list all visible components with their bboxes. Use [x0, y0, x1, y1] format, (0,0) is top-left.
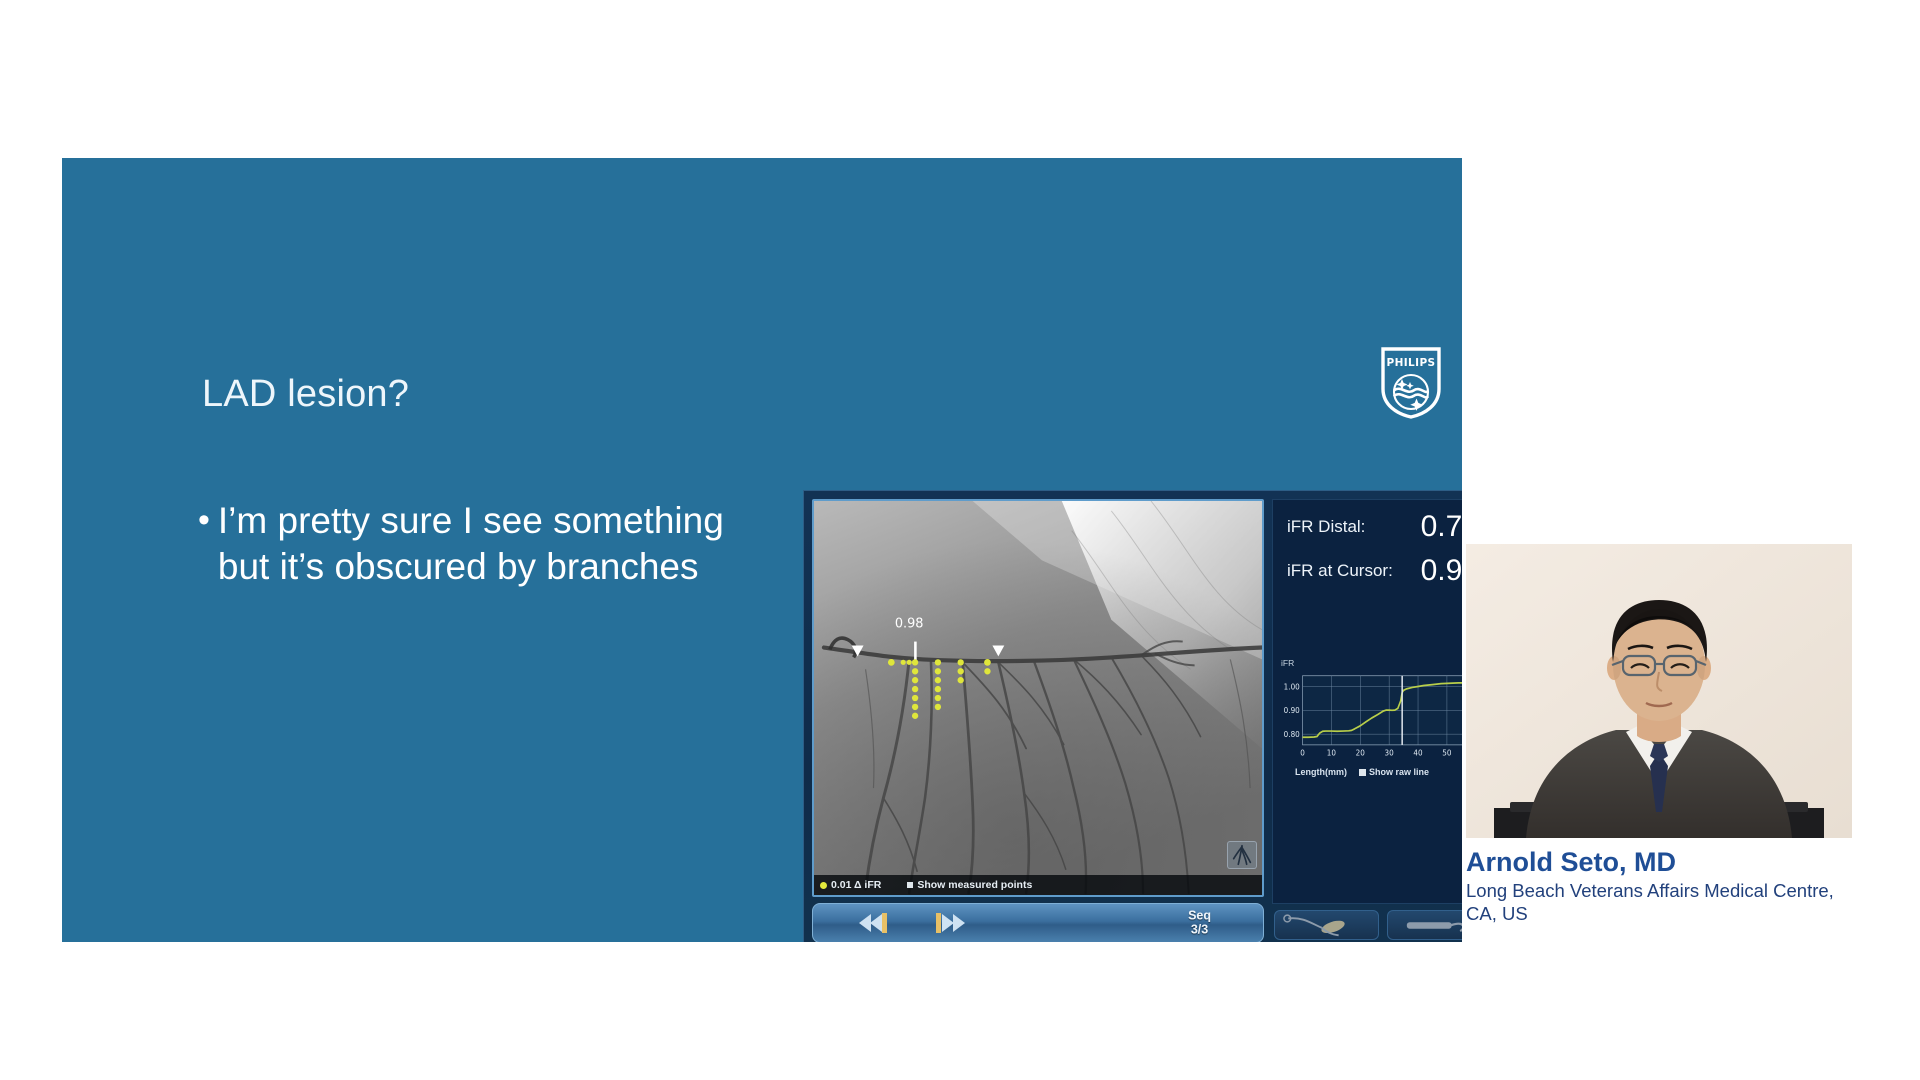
svg-text:10: 10 — [1327, 748, 1336, 757]
catheter-icon[interactable] — [1387, 910, 1462, 940]
angiogram-legend: 0.01 Δ iFR Show measured points — [814, 875, 1262, 895]
svg-text:20: 20 — [1356, 748, 1365, 757]
presentation-viewer: LAD lesion? • I’m pretty sure I see some… — [0, 0, 1920, 1080]
bullet-marker-icon: • — [198, 498, 210, 543]
checkbox-icon[interactable] — [907, 882, 913, 888]
speaker-panel: Arnold Seto, MD Long Beach Veterans Affa… — [1466, 544, 1852, 925]
slide-title: LAD lesion? — [202, 373, 409, 416]
chart-canvas: 01020304050600.800.901.00 — [1279, 670, 1462, 766]
legend-show-measured-points[interactable]: Show measured points — [907, 879, 1032, 891]
readout-label: iFR Distal: — [1287, 517, 1365, 537]
philips-shield-logo: PHILIPS — [1380, 346, 1442, 420]
show-raw-line-checkbox[interactable]: Show raw line — [1359, 767, 1429, 777]
svg-text:0.80: 0.80 — [1284, 730, 1300, 739]
yellow-dot-icon — [820, 882, 827, 889]
speaker-affiliation: Long Beach Veterans Affairs Medical Cent… — [1466, 880, 1852, 924]
measurement-side-panel: iFR Distal: 0.79 iFR at Cursor: 0.98 — [1272, 499, 1462, 942]
guidewire-icon[interactable] — [1274, 910, 1379, 940]
step-forward-icon[interactable] — [929, 910, 975, 936]
svg-text:50: 50 — [1442, 748, 1451, 757]
tool-button-row — [1272, 910, 1462, 942]
ifr-device-screenshot: 0.98 — [803, 490, 1462, 942]
bullet-text: I’m pretty sure I see something but it’s… — [218, 498, 778, 590]
readout-value: 0.79 — [1421, 512, 1462, 542]
ifr-pullback-chart[interactable]: iFR 01020304050600.800.901.00 Length(mm) — [1279, 658, 1462, 777]
chart-xlabel: Length(mm) — [1295, 767, 1347, 777]
slide-bullet-list: • I’m pretty sure I see something but it… — [198, 498, 778, 590]
sequence-value: 3/3 — [1191, 923, 1208, 937]
sequence-counter: Seq 3/3 — [1188, 909, 1211, 938]
sequence-label: Seq — [1188, 909, 1211, 923]
angiogram-column: 0.98 — [812, 499, 1264, 942]
slide: LAD lesion? • I’m pretty sure I see some… — [62, 158, 1462, 942]
speaker-name: Arnold Seto, MD — [1466, 848, 1852, 876]
readout-panel: iFR Distal: 0.79 iFR at Cursor: 0.98 — [1272, 499, 1462, 904]
speaker-video[interactable] — [1466, 544, 1852, 838]
svg-text:0.98: 0.98 — [895, 617, 924, 632]
readout-label: iFR at Cursor: — [1287, 561, 1393, 581]
svg-text:1.00: 1.00 — [1284, 682, 1300, 691]
chart-footer: Length(mm) Show raw line — [1279, 767, 1462, 777]
svg-text:PHILIPS: PHILIPS — [1386, 357, 1435, 369]
checkbox-icon[interactable] — [1359, 769, 1366, 776]
svg-text:40: 40 — [1413, 748, 1422, 757]
step-backward-icon[interactable] — [849, 910, 895, 936]
svg-text:30: 30 — [1385, 748, 1394, 757]
sequence-transport-bar: Seq 3/3 — [812, 903, 1264, 942]
readout-ifr-distal: iFR Distal: 0.79 — [1283, 512, 1462, 542]
chart-ylabel: iFR — [1281, 658, 1462, 668]
list-item: • I’m pretty sure I see something but it… — [198, 498, 778, 590]
svg-text:0: 0 — [1300, 748, 1305, 757]
readout-ifr-at-cursor: iFR at Cursor: 0.98 — [1283, 556, 1462, 586]
readout-value: 0.98 — [1421, 556, 1462, 586]
svg-text:0.90: 0.90 — [1284, 706, 1300, 715]
angiogram-image[interactable]: 0.98 — [812, 499, 1264, 897]
magnifier-plus-icon[interactable] — [1461, 632, 1462, 650]
vessel-tree-icon[interactable] — [1227, 841, 1257, 869]
legend-delta-ifr: 0.01 Δ iFR — [820, 879, 881, 891]
